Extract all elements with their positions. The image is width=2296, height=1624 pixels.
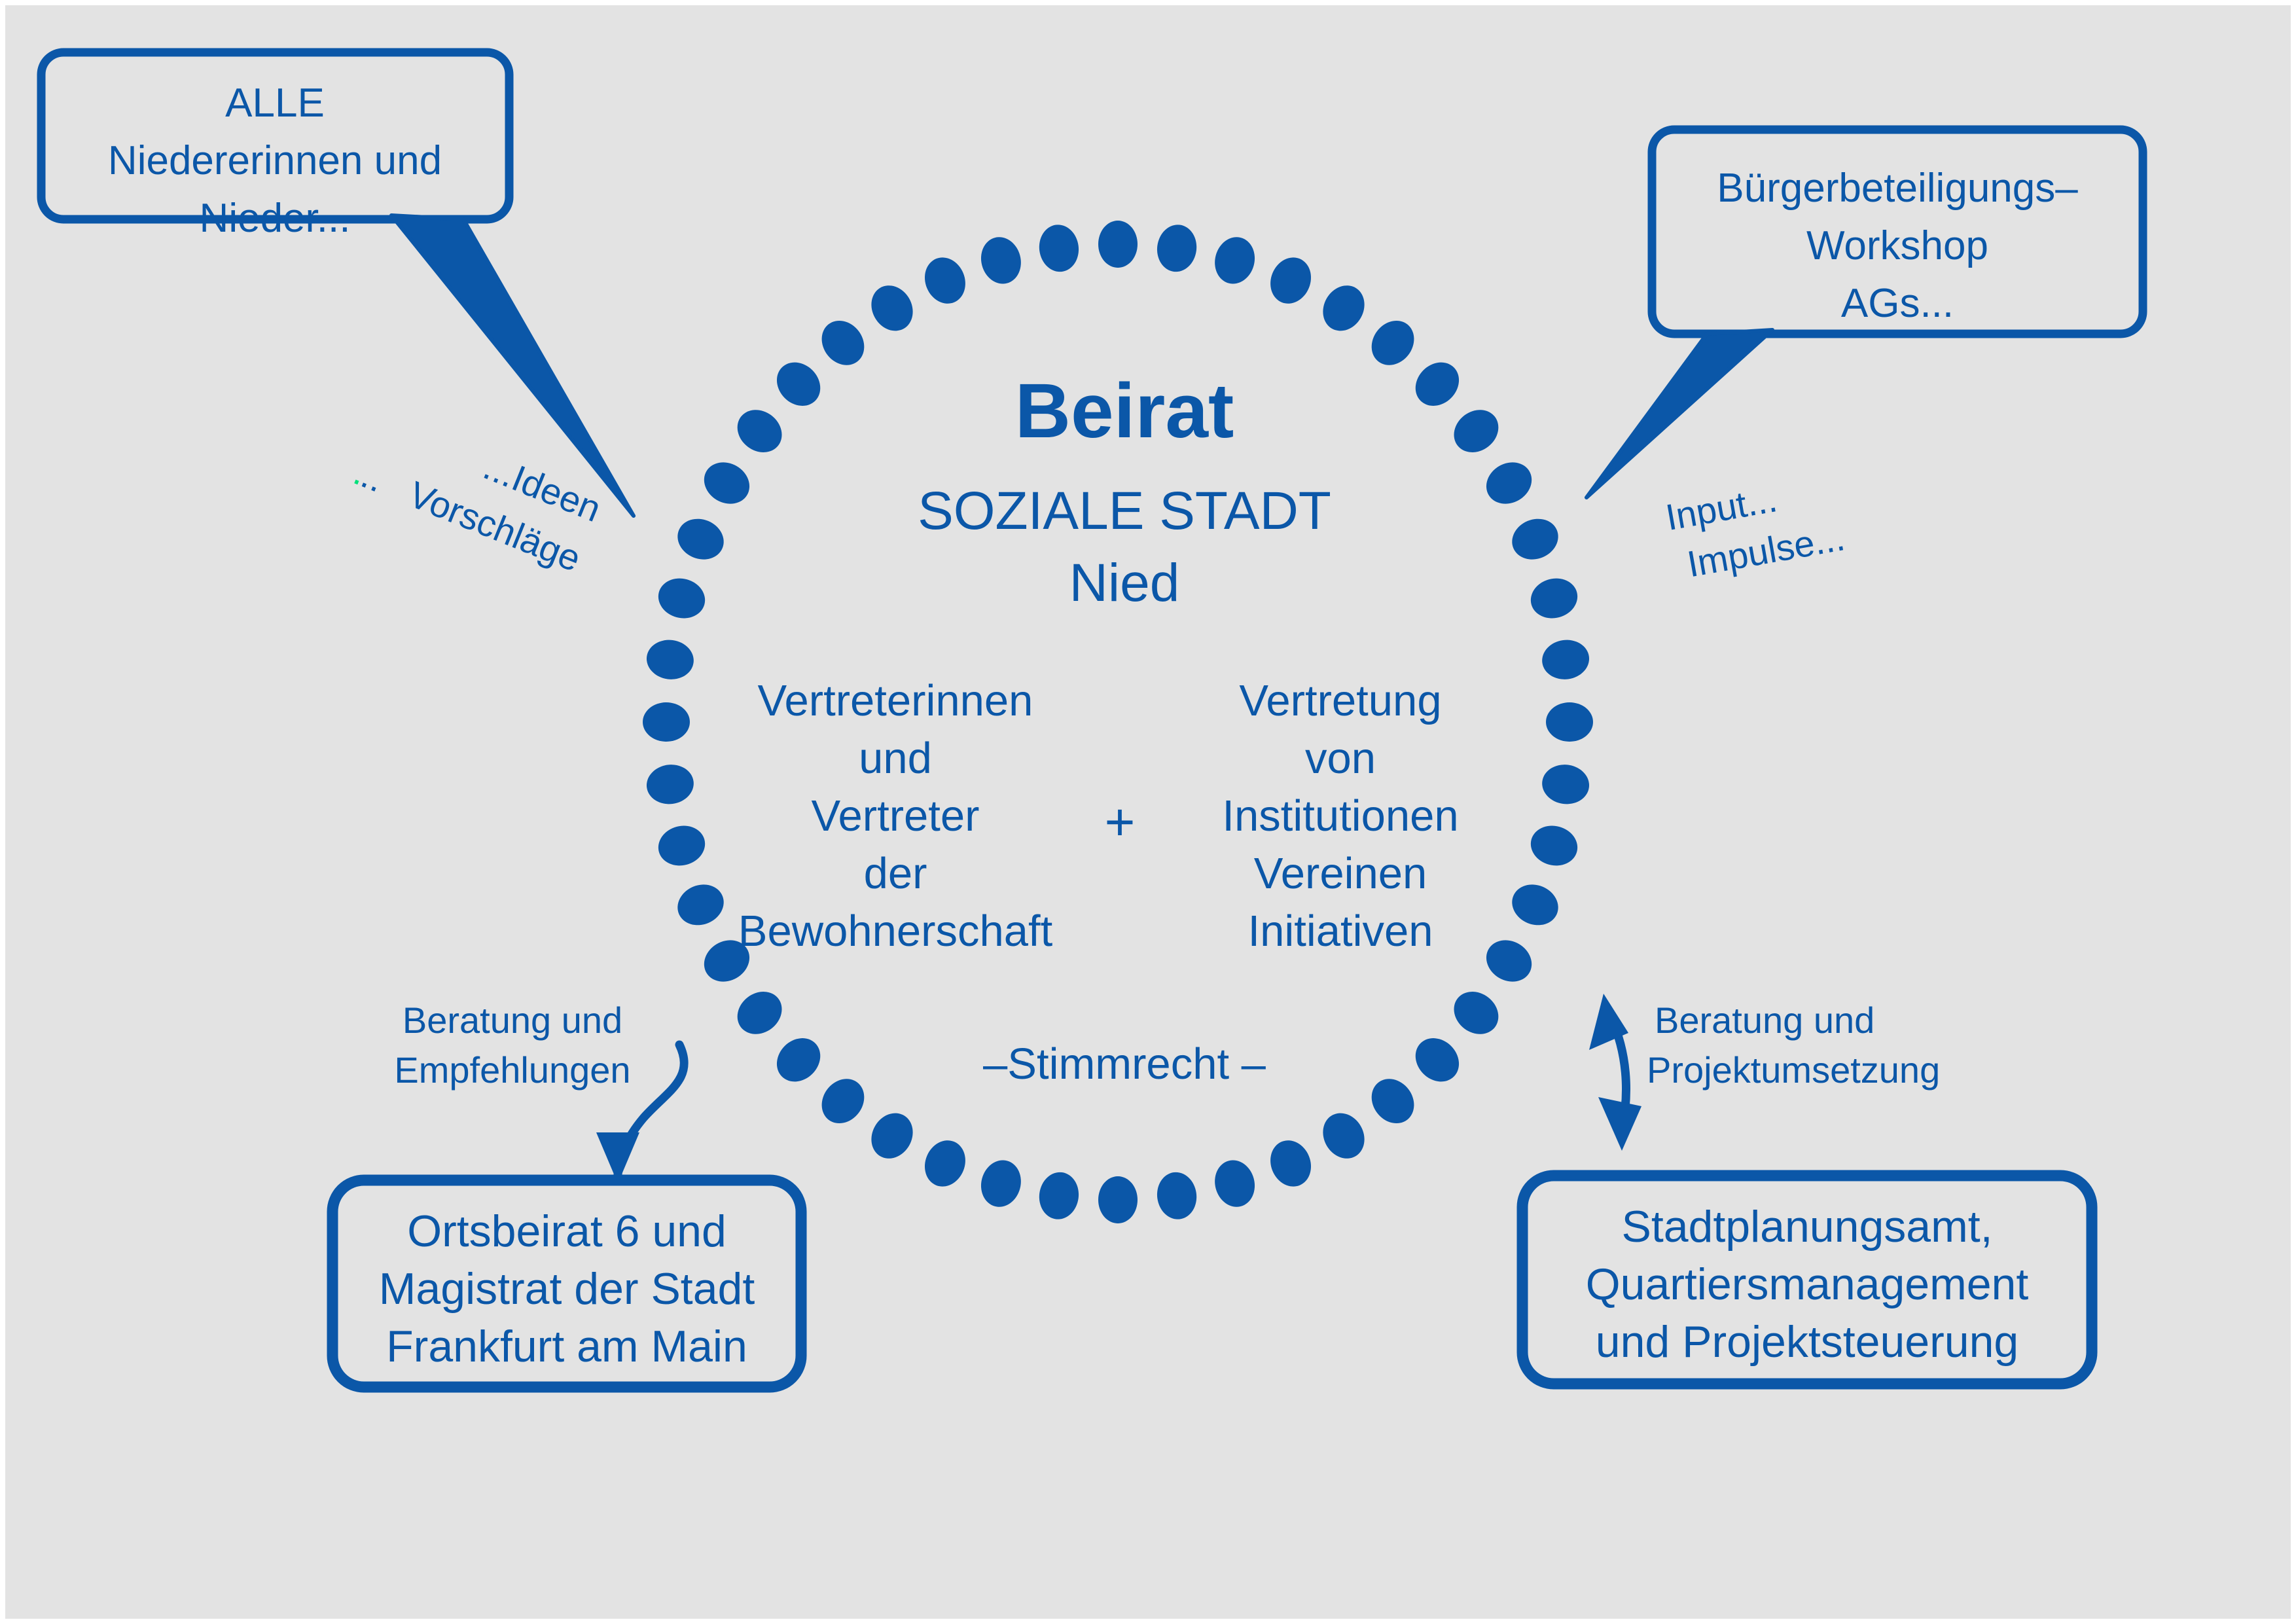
ring-dot xyxy=(1479,932,1539,990)
ring-dot xyxy=(1155,223,1200,274)
ring-dot xyxy=(1155,1170,1200,1221)
ring-dot xyxy=(813,312,872,374)
ring-dot xyxy=(918,251,972,310)
ring-dot xyxy=(1315,278,1372,338)
ring-dot xyxy=(644,637,696,682)
ring-dot xyxy=(1315,1106,1372,1166)
ring-dot xyxy=(768,353,829,414)
ring-dot xyxy=(1036,1170,1081,1221)
ring-dot xyxy=(729,401,791,461)
ring-dot xyxy=(1539,762,1591,807)
ring-dot xyxy=(1098,221,1138,268)
box-bottom-left-line1: Ortsbeirat 6 und xyxy=(407,1206,726,1256)
center-right-line-4: Vereinen xyxy=(1254,849,1427,898)
beratung-projektumsetzung-arrow xyxy=(1589,994,1641,1151)
ring-dot xyxy=(672,512,730,566)
ring-dot xyxy=(976,232,1026,288)
box-bottom-left-line3: Frankfurt am Main xyxy=(386,1322,747,1371)
center-right-line-3: Institutionen xyxy=(1222,791,1458,840)
ring-dot xyxy=(654,573,709,624)
alle-niedererinnen-bubble[interactable] xyxy=(41,52,634,516)
diagram-stage: ALLE Niedererinnen und Nieder... Bürgerb… xyxy=(5,5,2291,1619)
ring-dot xyxy=(1446,983,1507,1043)
ring-dot xyxy=(696,454,757,512)
bubble-top-left-line1: ALLE xyxy=(225,81,325,126)
bubble-top-right-line3: AGs... xyxy=(1841,281,1954,326)
bubble-body-top-left xyxy=(41,52,509,219)
ring-dot xyxy=(672,878,730,932)
annotation-beratung-projektumsetzung-line2: Projektumsetzung xyxy=(1647,1049,1940,1091)
ring-dot xyxy=(644,762,696,807)
input-impulse-annotation: Input... Impulse... xyxy=(1662,467,1848,587)
center-left-line-2: und xyxy=(859,734,932,783)
ring-dot xyxy=(1210,232,1260,288)
ring-dot xyxy=(729,983,791,1043)
bubble-top-right-line2: Workshop xyxy=(1806,223,1988,268)
center-right-line-2: von xyxy=(1305,734,1376,783)
bubble-top-left-line2: Niedererinnen und xyxy=(108,138,442,183)
ring-dot xyxy=(1036,223,1081,274)
ring-dot xyxy=(1546,702,1593,742)
center-right-line-1: Vertretung xyxy=(1239,676,1441,725)
center-left-line-5: Bewohnerschaft xyxy=(738,907,1053,956)
ring-dot xyxy=(1210,1156,1260,1212)
bubble-top-left-line3: Nieder... xyxy=(200,196,351,241)
ring-dot xyxy=(1506,878,1564,932)
bubble-top-right-line1: Bürgerbeteiligungs– xyxy=(1717,166,2078,211)
ring-dot xyxy=(1407,353,1467,414)
center-subtitle-line2: Nied xyxy=(1069,553,1180,613)
page-title: Beirat xyxy=(1015,368,1234,454)
plus-symbol: + xyxy=(1105,793,1136,851)
ring-dot xyxy=(1363,1070,1422,1132)
ring-dot xyxy=(1098,1176,1138,1223)
ring-dot xyxy=(976,1156,1026,1212)
center-left-line-1: Vertreterinnen xyxy=(758,676,1033,725)
ring-dot xyxy=(1407,1030,1467,1091)
ring-dot xyxy=(1539,637,1591,682)
box-bottom-right-line2: Quartiersmanagement xyxy=(1586,1259,2029,1309)
ring-dot xyxy=(1526,821,1582,871)
ring-dot xyxy=(1506,512,1564,566)
center-left-line-3: Vertreter xyxy=(812,791,980,840)
annotation-beratung-empfehlungen-line2: Empfehlungen xyxy=(394,1049,630,1091)
annotation-beratung-empfehlungen-line1: Beratung und xyxy=(403,1000,622,1041)
arrow-head-right-down xyxy=(1598,1097,1641,1151)
stimmrecht-note: –Stimmrecht – xyxy=(983,1039,1266,1089)
ring-dot xyxy=(1479,454,1539,512)
page-canvas: ALLE Niedererinnen und Nieder... Bürgerb… xyxy=(0,0,2296,1624)
ring-dot xyxy=(643,702,690,742)
center-right-line-5: Initiativen xyxy=(1247,907,1433,956)
ring-dot xyxy=(918,1134,972,1193)
ring-dot xyxy=(813,1070,872,1132)
annotation-beratung-projektumsetzung-line1: Beratung und xyxy=(1655,1000,1874,1041)
box-bottom-right-line3: und Projektsteuerung xyxy=(1596,1317,2018,1367)
ring-dot xyxy=(768,1030,829,1091)
center-subtitle-line1: SOZIALE STADT xyxy=(918,481,1331,541)
box-bottom-left-line2: Magistrat der Stadt xyxy=(379,1264,755,1314)
ring-dot xyxy=(1526,573,1582,624)
ring-dot xyxy=(1446,401,1507,461)
ring-dot xyxy=(1363,312,1422,374)
ring-dot xyxy=(863,1106,921,1166)
ring-dot xyxy=(1264,251,1318,310)
diagram-svg: ALLE Niedererinnen und Nieder... Bürgerb… xyxy=(5,5,2291,1619)
ring-dot xyxy=(863,278,921,338)
center-left-line-4: der xyxy=(864,849,927,898)
ring-dot xyxy=(654,821,709,871)
ring-dot xyxy=(1264,1134,1318,1193)
annotation-input: Input... xyxy=(1662,478,1780,538)
bubble-tail-top-right xyxy=(1587,330,1772,497)
box-bottom-right-line1: Stadtplanungsamt, xyxy=(1621,1202,1992,1252)
